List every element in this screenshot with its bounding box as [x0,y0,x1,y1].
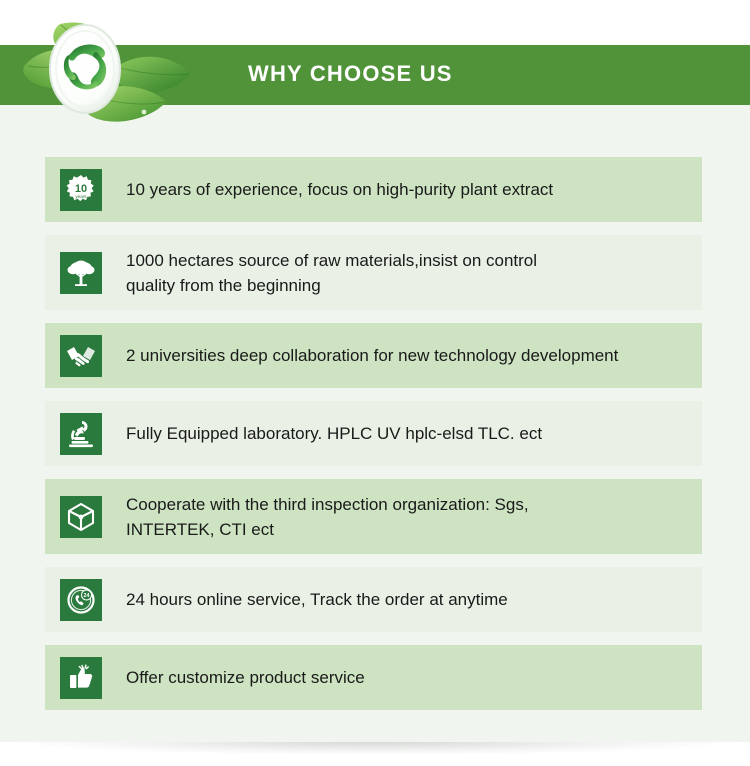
list-item-text: 24 hours online service, Track the order… [126,587,702,612]
svg-text:years: years [75,194,87,199]
thumbs-up-icon [60,657,102,699]
list-item[interactable]: 10 years 10 years of experience, focus o… [45,157,702,222]
why-choose-us-banner: WHY CHOOSE US 10 years 10 years of exper… [0,0,750,766]
list-item-text: Fully Equipped laboratory. HPLC UV hplc-… [126,421,702,446]
card-drop-shadow [0,742,750,758]
handshake-icon [60,335,102,377]
list-item-line: quality from the beginning [126,273,696,298]
list-item-line: Fully Equipped laboratory. HPLC UV hplc-… [126,424,542,443]
list-item[interactable]: 1000 hectares source of raw materials,in… [45,235,702,310]
feature-list: 10 years 10 years of experience, focus o… [45,157,702,723]
list-item[interactable]: Offer customize product service [45,645,702,710]
list-item-line: 10 years of experience, focus on high-pu… [126,180,553,199]
ten-years-badge-icon: 10 years [60,169,102,211]
list-item[interactable]: Fully Equipped laboratory. HPLC UV hplc-… [45,401,702,466]
list-item-line: INTERTEK, CTI ect [126,517,696,542]
list-item-line: Cooperate with the third inspection orga… [126,492,696,517]
list-item[interactable]: 2 universities deep collaboration for ne… [45,323,702,388]
list-item[interactable]: 24 24 hours online service, Track the or… [45,567,702,632]
list-item-text: Cooperate with the third inspection orga… [126,492,702,542]
page-title: WHY CHOOSE US [248,61,453,87]
phone-24h-icon: 24 [60,579,102,621]
svg-text:24: 24 [84,593,90,599]
list-item-text: 2 universities deep collaboration for ne… [126,343,702,368]
list-item-line: Offer customize product service [126,668,365,687]
list-item[interactable]: Cooperate with the third inspection orga… [45,479,702,554]
list-item-text: 1000 hectares source of raw materials,in… [126,248,702,298]
microscope-icon [60,413,102,455]
list-item-line: 2 universities deep collaboration for ne… [126,346,618,365]
list-item-text: 10 years of experience, focus on high-pu… [126,177,702,202]
list-item-line: 1000 hectares source of raw materials,in… [126,248,696,273]
list-item-text: Offer customize product service [126,665,702,690]
cube-box-icon [60,496,102,538]
tree-icon [60,252,102,294]
leaf-recycle-logo [14,12,214,132]
list-item-line: 24 hours online service, Track the order… [126,590,508,609]
